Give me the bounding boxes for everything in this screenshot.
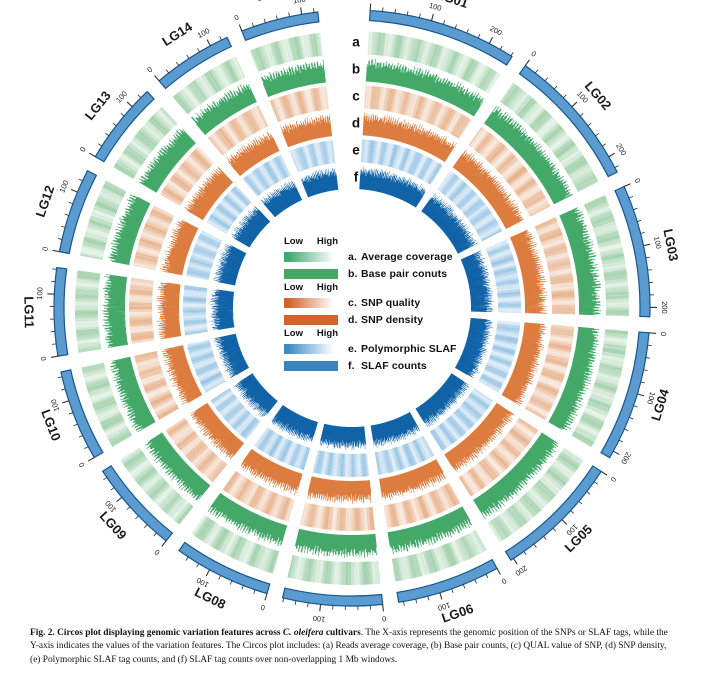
axis-tick-major xyxy=(162,541,166,546)
axis-tick-major xyxy=(431,14,433,21)
axis-tick-label: 0 xyxy=(260,603,267,613)
axis-tick-minor xyxy=(486,574,488,578)
axis-tick-minor xyxy=(58,238,62,239)
axis-tick-minor xyxy=(395,9,396,13)
axis-tick-minor xyxy=(615,166,619,168)
axis-tick-minor xyxy=(242,586,244,590)
axis-tick-minor xyxy=(534,544,537,547)
axis-tick-label: 200 xyxy=(614,142,628,157)
axis-tick-minor xyxy=(452,589,453,593)
axis-tick-minor xyxy=(580,113,583,116)
caption-title-2: cultivars xyxy=(324,628,361,638)
legend-low-label: Low xyxy=(284,236,303,248)
axis-tick-label: 0 xyxy=(369,0,374,1)
axis-tick-label: 0 xyxy=(78,145,88,153)
axis-tick-minor xyxy=(187,55,189,59)
axis-tick-major xyxy=(127,102,132,107)
axis-tick-minor xyxy=(105,133,108,135)
chromosome-label[interactable]: LG05 xyxy=(561,522,595,555)
axis-tick-minor xyxy=(416,599,417,603)
axis-tick-minor xyxy=(98,144,102,146)
axis-tick-minor xyxy=(138,95,141,98)
histogram-segment xyxy=(213,244,246,285)
axis-tick-major xyxy=(601,471,607,475)
axis-tick-label: 0 xyxy=(77,461,87,469)
axis-tick-label: 0 xyxy=(659,332,668,337)
axis-tick-major xyxy=(513,558,517,564)
axis-tick-minor xyxy=(579,501,582,504)
axis-tick-major xyxy=(88,458,94,462)
axis-tick-major xyxy=(613,451,619,454)
axis-tick-minor xyxy=(283,598,284,602)
axis-tick-minor xyxy=(79,435,83,437)
axis-tick-label: 0 xyxy=(632,177,642,184)
axis-tick-minor xyxy=(135,516,138,519)
axis-tick-major xyxy=(265,594,267,601)
axis-tick-minor xyxy=(404,602,405,606)
axis-tick-minor xyxy=(314,8,315,12)
legend-label-c: c.SNP quality xyxy=(348,297,420,309)
axis-tick-minor xyxy=(644,370,648,371)
axis-tick-minor xyxy=(289,13,290,17)
axis-tick-label: 100 xyxy=(292,0,306,5)
legend-swatch-b xyxy=(284,269,338,279)
heatmap-segment xyxy=(129,278,155,344)
axis-tick-minor xyxy=(407,11,408,15)
legend-swatch-e xyxy=(284,344,338,354)
legend-row-e: e.Polymorphic SLAF xyxy=(284,340,494,357)
axis-tick-minor xyxy=(61,389,65,390)
axis-tick-major xyxy=(320,604,321,611)
chromosome-label[interactable]: LG10 xyxy=(38,407,64,443)
axis-tick-minor xyxy=(633,208,637,209)
legend-label-a: a.Average coverage xyxy=(348,251,453,263)
axis-tick-label: 200 xyxy=(660,301,669,314)
axis-tick-major xyxy=(637,394,644,396)
axis-tick-label: 0 xyxy=(39,356,49,362)
axis-tick-major xyxy=(239,25,242,32)
legend-label-d: d.SNP density xyxy=(348,314,423,326)
axis-tick-major xyxy=(562,520,567,525)
axis-tick-minor xyxy=(634,406,638,407)
axis-tick-major xyxy=(440,593,442,600)
axis-tick-minor xyxy=(69,202,73,203)
axis-tick-label: 100 xyxy=(652,236,663,250)
axis-tick-minor xyxy=(52,344,56,345)
axis-tick-major xyxy=(206,570,209,576)
track-label-a: a xyxy=(352,35,360,50)
axis-tick-minor xyxy=(554,86,557,89)
axis-tick-minor xyxy=(197,564,199,568)
axis-tick-minor xyxy=(544,536,547,539)
axis-tick-major xyxy=(497,568,500,574)
axis-tick-minor xyxy=(166,70,169,73)
axis-tick-minor xyxy=(230,581,232,585)
axis-tick-minor xyxy=(419,14,420,18)
axis-tick-minor xyxy=(619,440,623,442)
axis-tick-minor xyxy=(220,36,222,40)
caption-fig-label: Fig. 2. xyxy=(30,628,55,638)
axis-tick-minor xyxy=(595,133,598,135)
track-label-e: e xyxy=(352,143,360,158)
legend-swatch-a xyxy=(284,252,338,262)
axis-tick-major xyxy=(51,356,58,357)
heatmap-segment xyxy=(287,555,380,585)
chromosome-label[interactable]: LG07 xyxy=(314,622,347,624)
track-label-f: f xyxy=(354,170,359,185)
axis-tick-minor xyxy=(65,214,69,215)
axis-tick-major xyxy=(62,401,69,403)
axis-tick-minor xyxy=(121,113,124,116)
caption-title-1: Circos plot displaying genomic variation… xyxy=(57,628,283,638)
track-label-d: d xyxy=(352,116,360,131)
chromosome-label[interactable]: LG11 xyxy=(21,296,36,328)
histogram-segment xyxy=(295,529,377,558)
axis-tick-major xyxy=(207,40,210,46)
axis-tick-minor xyxy=(176,62,178,65)
histogram-segment xyxy=(307,476,371,504)
axis-tick-label: 0 xyxy=(500,576,508,586)
legend-swatch-f xyxy=(284,361,338,371)
axis-tick-minor xyxy=(478,34,480,38)
axis-tick-label: 100 xyxy=(196,26,211,40)
axis-tick-minor xyxy=(455,24,456,28)
axis-tick-minor xyxy=(52,269,56,270)
axis-tick-minor xyxy=(545,78,548,81)
legend-low-label: Low xyxy=(284,282,303,294)
histogram-segment xyxy=(210,289,235,330)
axis-tick-label: 200 xyxy=(488,24,503,38)
track-label-b: b xyxy=(352,62,360,77)
axis-tick-label: 100 xyxy=(57,179,70,194)
axis-tick-minor xyxy=(463,584,465,588)
axis-tick-label: 0 xyxy=(233,13,240,23)
axis-tick-major xyxy=(116,497,121,501)
axis-tick-major xyxy=(71,189,77,192)
axis-tick-minor xyxy=(186,557,188,561)
axis-tick-minor xyxy=(646,358,650,359)
histogram-segment xyxy=(156,283,181,340)
axis-tick-minor xyxy=(646,257,650,258)
axis-tick-minor xyxy=(641,232,645,233)
axis-tick-minor xyxy=(637,220,641,221)
axis-tick-minor xyxy=(144,525,147,528)
chromosome-label[interactable]: LG08 xyxy=(192,584,228,612)
axis-tick-minor xyxy=(154,533,157,536)
axis-tick-label: 0 xyxy=(145,65,154,75)
chromosome-label[interactable]: LG09 xyxy=(97,508,130,542)
legend-scale-header: LowHigh xyxy=(284,328,338,340)
axis-tick-minor xyxy=(252,23,253,27)
legend-label-e: e.Polymorphic SLAF xyxy=(348,343,457,355)
axis-tick-minor xyxy=(629,417,633,419)
axis-tick-minor xyxy=(127,507,130,510)
histogram-segment xyxy=(320,424,366,450)
track-letter-labels: abcdef xyxy=(352,35,360,185)
axis-tick-minor xyxy=(500,46,502,50)
axis-tick-minor xyxy=(571,511,574,514)
axis-tick-minor xyxy=(587,492,590,495)
axis-tick-minor xyxy=(113,123,116,126)
legend-swatch-c xyxy=(284,298,338,308)
legend-scale-header: LowHigh xyxy=(284,282,338,294)
histogram-segment xyxy=(102,274,128,348)
legend-high-label: High xyxy=(317,236,338,248)
axis-tick-minor xyxy=(524,551,526,554)
legend-high-label: High xyxy=(317,282,338,294)
legend-low-label: Low xyxy=(284,328,303,340)
axis-tick-major xyxy=(89,153,95,157)
axis-tick-minor xyxy=(308,603,309,607)
axis-tick-major xyxy=(649,333,656,334)
axis-tick-major xyxy=(525,60,529,66)
axis-tick-minor xyxy=(648,270,652,271)
axis-tick-label: 0 xyxy=(608,475,618,483)
legend-row-d: d.SNP density xyxy=(284,311,494,328)
caption-species: C. oleifera xyxy=(283,628,324,638)
axis-tick-minor xyxy=(264,19,265,23)
axis-tick-label: 0 xyxy=(529,49,538,59)
axis-tick-minor xyxy=(61,226,65,227)
axis-tick-minor xyxy=(535,70,538,73)
legend-scale-header: LowHigh xyxy=(284,236,338,248)
axis-tick-major xyxy=(609,153,615,157)
histogram-segment xyxy=(301,168,338,197)
legend-high-label: High xyxy=(317,328,338,340)
axis-tick-minor xyxy=(624,429,628,431)
figure-caption: Fig. 2. Circos plot displaying genomic v… xyxy=(30,627,678,667)
chromosome-label[interactable]: LG12 xyxy=(33,183,58,219)
axis-tick-minor xyxy=(475,580,477,584)
legend: LowHigha.Average coverageb.Base pair con… xyxy=(284,236,494,358)
figure-container: 0100200010020001002000100200010020001000… xyxy=(0,0,704,673)
axis-tick-minor xyxy=(58,377,62,378)
heatmap-segment xyxy=(183,285,208,335)
heatmap-segment xyxy=(313,450,370,477)
chromosome-label[interactable]: LG15 xyxy=(255,0,290,4)
axis-tick-label: 100 xyxy=(114,89,129,104)
axis-tick-major xyxy=(383,604,384,611)
axis-tick-minor xyxy=(511,52,513,56)
legend-label-b: b.Base pair conuts xyxy=(348,268,447,280)
axis-tick-minor xyxy=(588,123,591,126)
chromosome-label[interactable]: LG03 xyxy=(660,228,681,263)
axis-tick-major xyxy=(155,76,160,81)
axis-tick-minor xyxy=(602,144,606,146)
heatmap-segment xyxy=(290,140,336,172)
chromosome-label[interactable]: LG14 xyxy=(159,19,195,50)
heatmap-segment xyxy=(300,502,375,531)
axis-tick-minor xyxy=(563,95,566,98)
legend-row-f: f.SLAF counts xyxy=(284,357,494,374)
legend-swatch-d xyxy=(284,315,338,325)
ideogram-segment[interactable] xyxy=(54,268,68,357)
axis-tick-minor xyxy=(254,590,255,594)
legend-row-a: a.Average coverage xyxy=(284,248,494,265)
axis-tick-label: 200 xyxy=(619,451,633,466)
axis-tick-minor xyxy=(219,575,221,579)
axis-tick-minor xyxy=(553,528,556,531)
legend-label-f: f.SLAF counts xyxy=(348,360,427,372)
axis-tick-minor xyxy=(648,345,652,346)
axis-tick-minor xyxy=(467,29,469,33)
legend-row-b: b.Base pair conuts xyxy=(284,265,494,282)
axis-tick-major xyxy=(53,250,60,251)
axis-tick-minor xyxy=(69,413,73,414)
axis-tick-minor xyxy=(111,488,114,491)
axis-tick-major xyxy=(643,244,650,245)
axis-tick-minor xyxy=(295,601,296,605)
axis-tick-minor xyxy=(103,477,106,479)
chromosome-label[interactable]: LG13 xyxy=(82,88,114,123)
ideogram-segment[interactable] xyxy=(283,588,383,606)
axis-tick-minor xyxy=(74,424,78,426)
axis-tick-major xyxy=(572,102,577,107)
axis-tick-minor xyxy=(84,447,88,449)
axis-tick-minor xyxy=(428,596,429,600)
axis-tick-minor xyxy=(641,382,645,383)
axis-tick-label: 200 xyxy=(514,563,529,577)
axis-tick-minor xyxy=(629,196,633,198)
axis-tick-label: 0 xyxy=(40,246,50,252)
axis-tick-major xyxy=(489,37,492,43)
axis-tick-minor xyxy=(79,179,83,181)
axis-tick-label: 0 xyxy=(153,547,162,557)
axis-tick-minor xyxy=(276,15,277,19)
legend-row-c: c.SNP quality xyxy=(284,294,494,311)
axis-tick-major xyxy=(624,184,630,187)
track-label-c: c xyxy=(352,89,360,104)
axis-tick-label: 0 xyxy=(382,614,387,623)
axis-tick-major xyxy=(301,7,302,14)
axis-tick-minor xyxy=(197,48,199,52)
heatmap-segment xyxy=(75,270,101,352)
axis-tick-minor xyxy=(443,20,444,24)
axis-tick-minor xyxy=(594,482,597,484)
